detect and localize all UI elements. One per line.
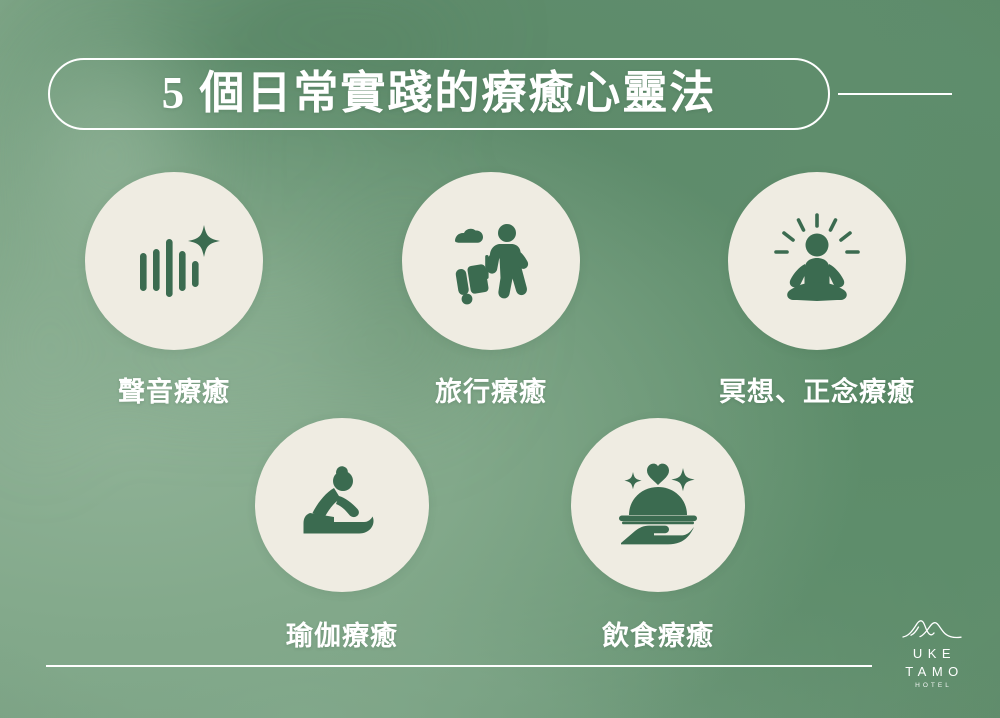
item-meditation[interactable]: 冥想、正念療癒 [719,172,915,409]
item-diet-circle [571,418,745,592]
icon-row-top: 聲音療癒 [0,172,1000,409]
logo-line-1: UKE [908,645,956,663]
page-title: 5 個日常實踐的療癒心靈法 [162,71,717,116]
item-meditation-label: 冥想、正念療癒 [719,370,915,409]
meditation-lotus-icon [765,209,869,313]
item-travel[interactable]: 旅行療癒 [402,172,580,409]
title-pill: 5 個日常實踐的療癒心靈法 [48,58,830,130]
footer-rule-line [46,665,872,667]
item-diet[interactable]: 飲食療癒 [571,418,745,653]
infographic-canvas: 5 個日常實踐的療癒心靈法 聲音療癒 [0,0,1000,718]
food-cloche-heart-icon [609,457,707,553]
item-sound-label: 聲音療癒 [118,370,230,409]
item-yoga-label: 瑜伽療癒 [286,614,398,653]
yoga-stretch-icon [292,461,392,549]
item-sound[interactable]: 聲音療癒 [85,172,263,409]
sound-wave-sparkle-icon [126,213,222,309]
item-meditation-circle [728,172,906,350]
icon-row-bottom: 瑜伽療癒 [0,418,1000,653]
logo-subtitle: HOTEL [912,680,952,692]
item-yoga[interactable]: 瑜伽療癒 [255,418,429,653]
item-travel-circle [402,172,580,350]
logo-line-2: TAMO [900,663,964,681]
header-rule-line [838,93,952,95]
item-travel-label: 旅行療癒 [435,370,547,409]
traveler-suitcase-icon [441,211,541,311]
mountain-logo-icon [901,616,963,640]
brand-logo[interactable]: UKE TAMO HOTEL [884,616,980,692]
item-diet-label: 飲食療癒 [602,614,714,653]
item-yoga-circle [255,418,429,592]
item-sound-circle [85,172,263,350]
